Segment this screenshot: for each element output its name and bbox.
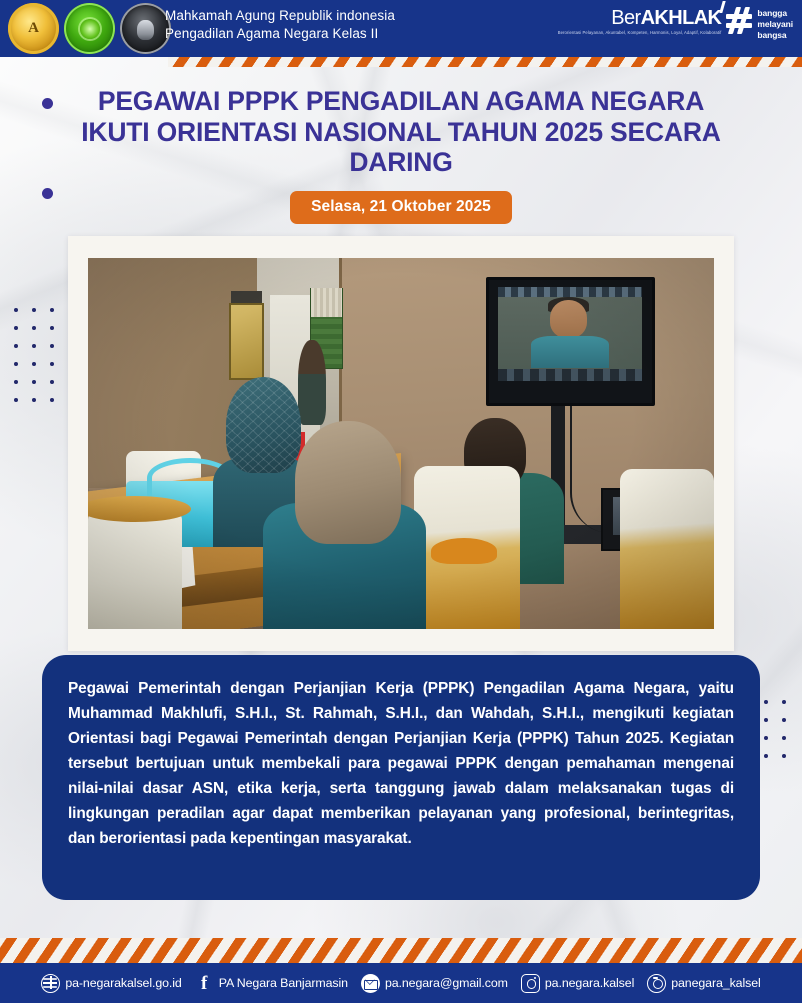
globe-icon (41, 974, 60, 993)
footer-item-email[interactable]: pa.negara@gmail.com (361, 974, 508, 993)
dot-grid-left (14, 308, 72, 402)
footer-email-label: pa.negara@gmail.com (385, 976, 508, 990)
footer-item-website[interactable]: pa-negarakalsel.go.id (41, 974, 181, 993)
berakhlak-wordmark: BerAKHLAK Berorientasi Pelayanan, Akunta… (558, 6, 722, 36)
poster-canvas: Mahkamah Agung Republik indonesia Pengad… (0, 0, 802, 1003)
institution-line-2: Pengadilan Agama Negara Kelas II (165, 25, 395, 43)
title-section: PEGAWAI PPPK PENGADILAN AGAMA NEGARA IKU… (0, 86, 802, 224)
berakhlak-word-main: AKHLAK (641, 7, 722, 29)
footer-camera-label: panegara_kalsel (671, 976, 760, 990)
berakhlak-logo: BerAKHLAK Berorientasi Pelayanan, Akunta… (558, 6, 793, 41)
footer-website-label: pa-negarakalsel.go.id (65, 976, 181, 990)
berakhlak-word: BerAKHLAK (558, 8, 722, 28)
footer-item-instagram[interactable]: pa.negara.kalsel (521, 974, 634, 993)
institution-line-1: Mahkamah Agung Republik indonesia (165, 7, 395, 25)
gold-medal-logo (8, 3, 59, 54)
berakhlak-tick-icon (711, 1, 726, 13)
page-footer: pa-negarakalsel.go.id f PA Negara Banjar… (0, 963, 802, 1003)
event-photo (88, 258, 714, 629)
berakhlak-tagline-line-2: melayani (757, 19, 793, 30)
berakhlak-hash-icon (726, 7, 752, 34)
header-logo-group (8, 3, 171, 54)
berakhlak-word-prefix: Ber (611, 7, 640, 29)
berakhlak-subtitle: Berorientasi Pelayanan, Akuntabel, Kompe… (558, 30, 722, 36)
facebook-icon: f (195, 974, 214, 993)
institution-name: Mahkamah Agung Republik indonesia Pengad… (165, 7, 395, 43)
black-seal-logo (120, 3, 171, 54)
camera-icon (647, 974, 666, 993)
berakhlak-tagline-line-1: bangga (757, 8, 793, 19)
email-icon (361, 974, 380, 993)
page-header: Mahkamah Agung Republik indonesia Pengad… (0, 0, 802, 57)
footer-item-facebook[interactable]: f PA Negara Banjarmasin (195, 974, 348, 993)
article-paragraph: Pegawai Pemerintah dengan Perjanjian Ker… (68, 677, 734, 852)
footer-facebook-label: PA Negara Banjarmasin (219, 976, 348, 990)
berakhlak-tagline-line-3: bangsa (757, 30, 793, 41)
photo-vignette (88, 258, 714, 629)
date-badge: Selasa, 21 Oktober 2025 (290, 191, 512, 224)
instagram-icon (521, 974, 540, 993)
bottom-stripe-band (0, 938, 802, 964)
berakhlak-tagline: bangga melayani bangsa (757, 6, 793, 41)
page-title: PEGAWAI PPPK PENGADILAN AGAMA NEGARA IKU… (0, 86, 802, 178)
article-panel: Pegawai Pemerintah dengan Perjanjian Ker… (42, 655, 760, 900)
footer-instagram-label: pa.negara.kalsel (545, 976, 634, 990)
photo-frame (68, 236, 734, 651)
green-seal-logo (64, 3, 115, 54)
footer-item-camera[interactable]: panegara_kalsel (647, 974, 760, 993)
